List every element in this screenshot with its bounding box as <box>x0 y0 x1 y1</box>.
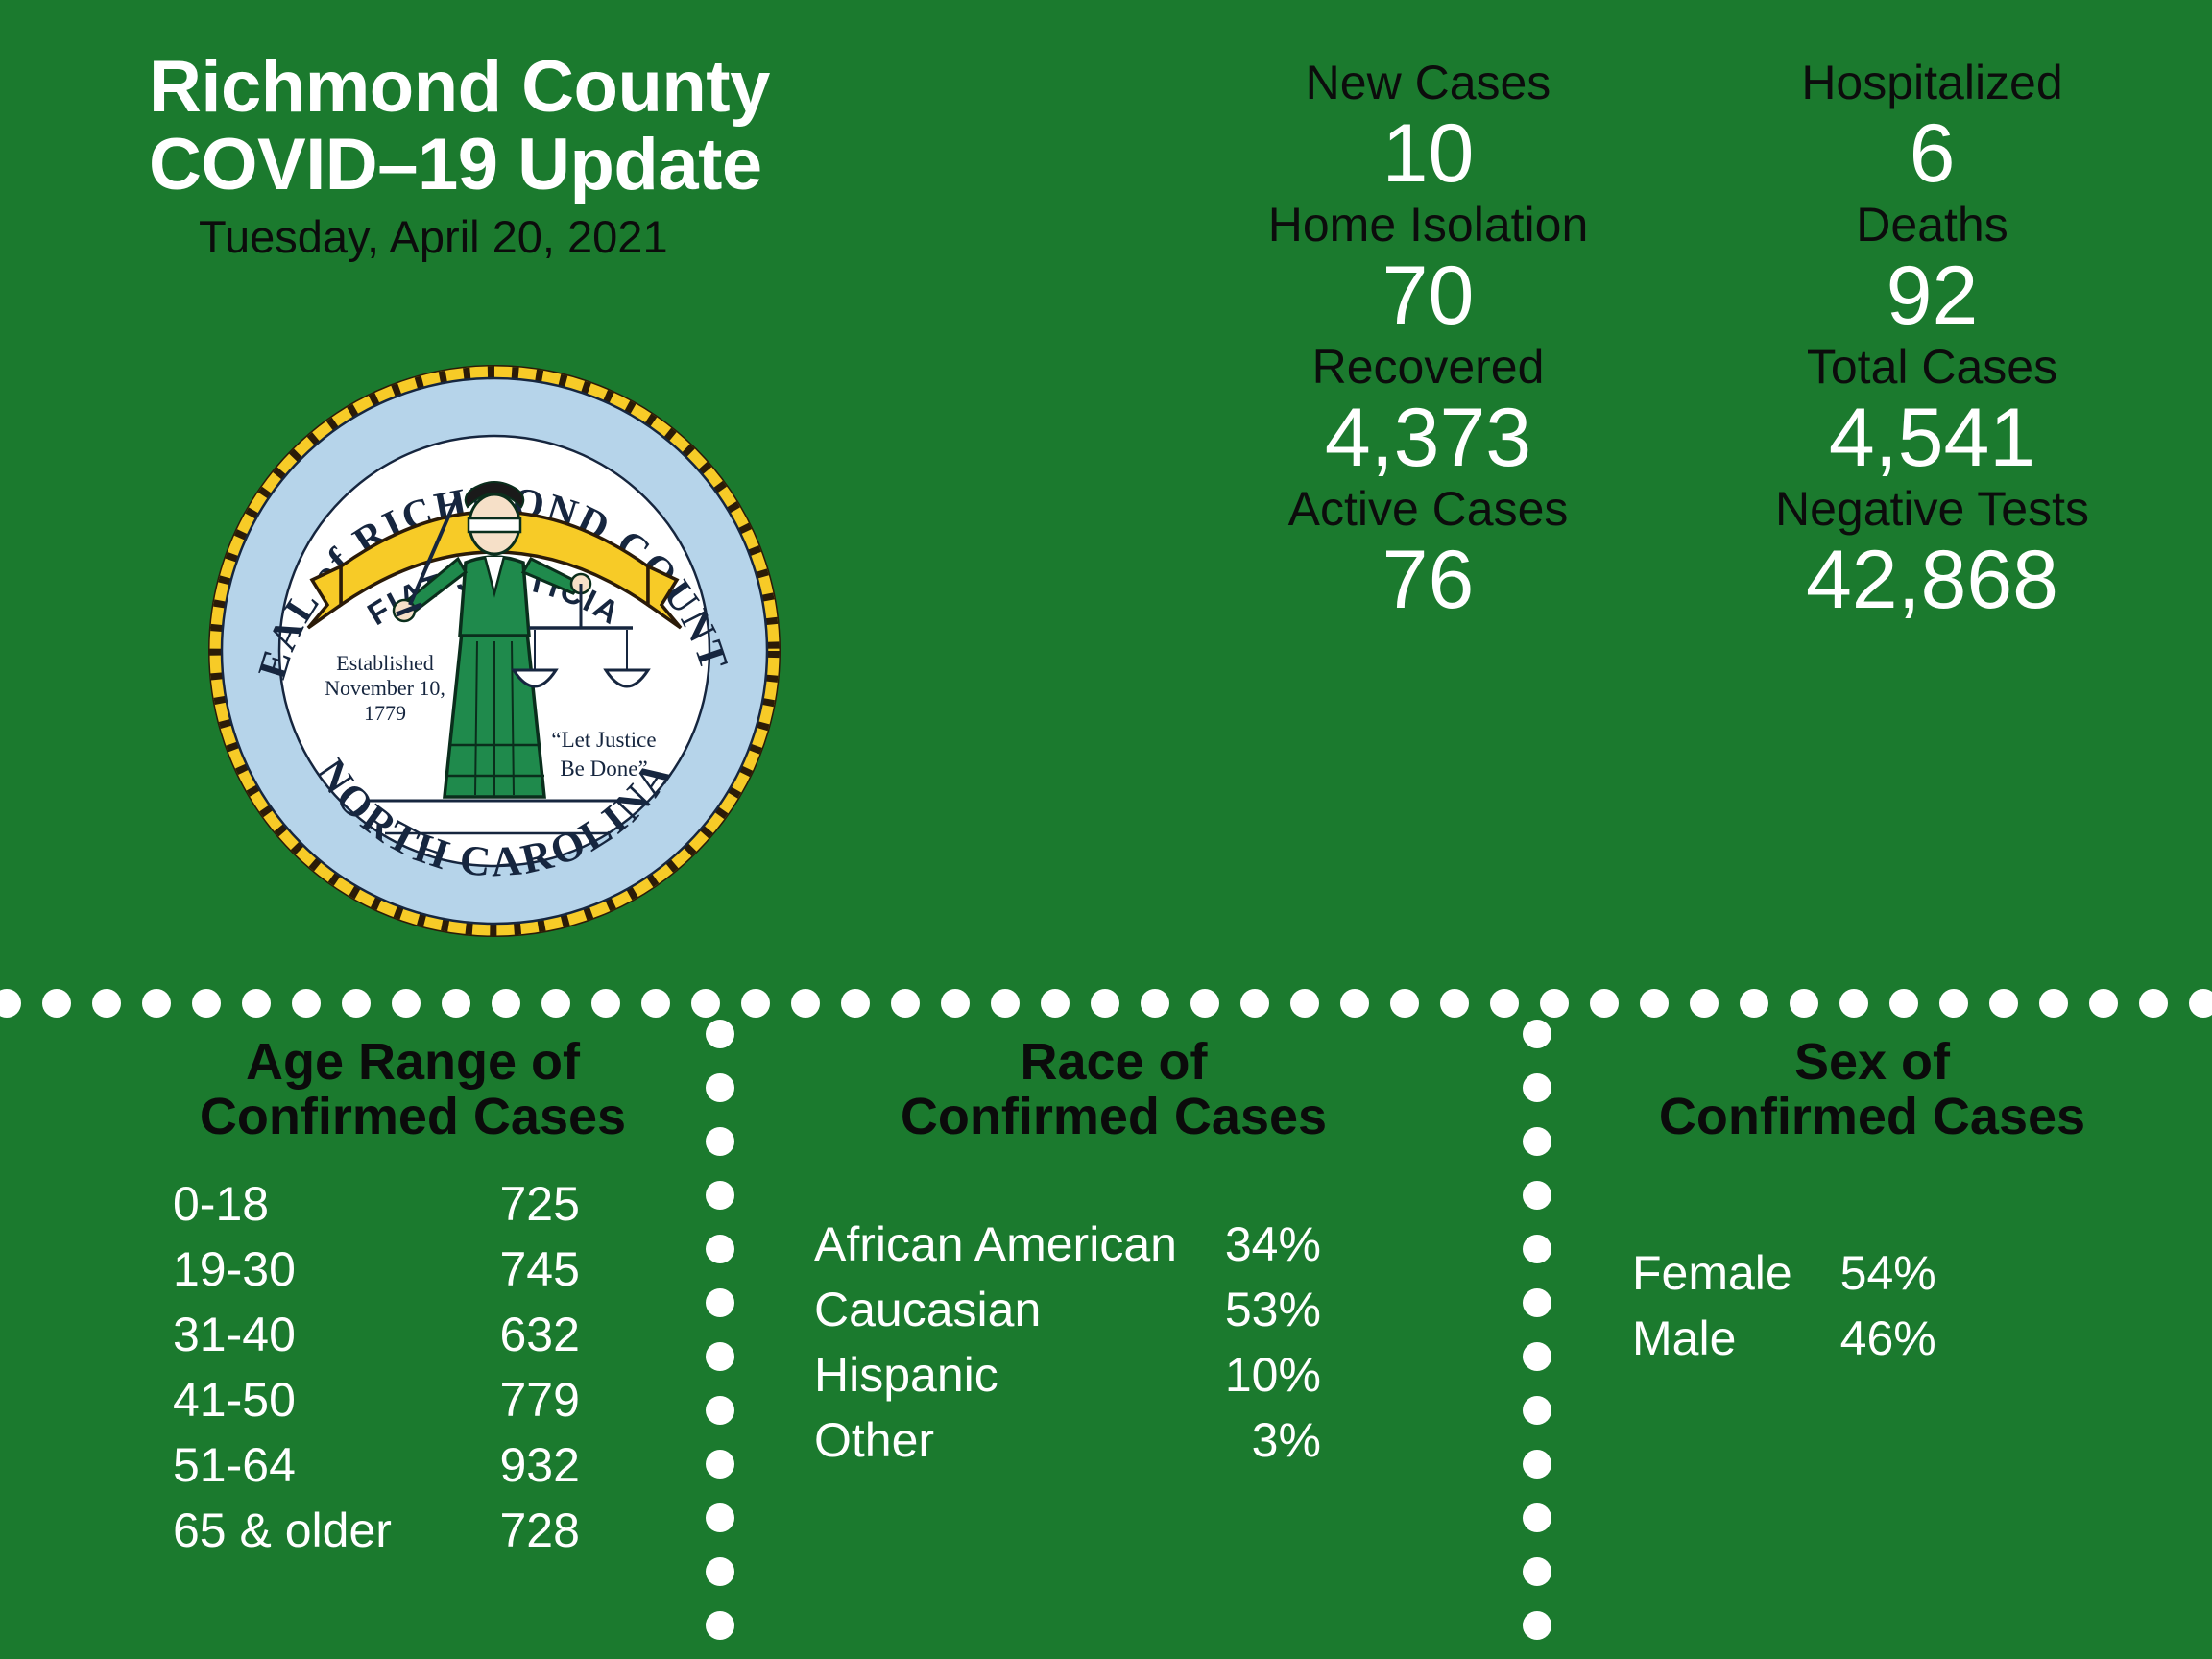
divider-dot <box>641 989 670 1018</box>
age-label: 31-40 <box>173 1302 426 1367</box>
age-label: 65 & older <box>173 1498 426 1563</box>
divider-dot <box>392 989 421 1018</box>
divider-dot <box>1640 989 1669 1018</box>
age-label: 19-30 <box>173 1237 426 1302</box>
divider-dot <box>591 989 620 1018</box>
divider-dot <box>1141 989 1169 1018</box>
divider-dot <box>342 989 371 1018</box>
divider-dot <box>42 989 71 1018</box>
table-row: Female 54% <box>1632 1240 1936 1306</box>
panel-race-heading-line-2: Confirmed Cases <box>768 1090 1459 1144</box>
divider-dot <box>1523 1288 1551 1317</box>
age-value: 745 <box>426 1237 580 1302</box>
sex-value: 54% <box>1792 1240 1936 1306</box>
divider-dot <box>541 989 570 1018</box>
divider-dot <box>242 989 271 1018</box>
stat-negative-tests: Negative Tests 42,868 <box>1699 482 2165 624</box>
stat-value: 92 <box>1699 252 2165 340</box>
divider-dot <box>706 1503 734 1532</box>
divider-dot <box>1523 1181 1551 1210</box>
panel-age-range: Age Range of Confirmed Cases 0-18 725 19… <box>144 1035 682 1563</box>
divider-dot <box>1091 989 1119 1018</box>
sex-label: Female <box>1632 1240 1792 1306</box>
race-value: 10% <box>1177 1342 1321 1407</box>
divider-dot <box>706 1127 734 1156</box>
divider-dot <box>706 1611 734 1640</box>
divider-dot <box>741 989 770 1018</box>
stat-value: 10 <box>1195 110 1661 198</box>
divider-dot <box>706 1450 734 1479</box>
divider-dot <box>1440 989 1469 1018</box>
table-row: 0-18 725 <box>173 1171 580 1237</box>
divider-dot <box>1523 1503 1551 1532</box>
age-label: 41-50 <box>173 1367 426 1432</box>
title-line-1: Richmond County <box>149 48 994 126</box>
sex-value: 46% <box>1792 1306 1936 1371</box>
divider-dot <box>1989 989 2018 1018</box>
vertical-dotted-divider-left <box>706 1020 734 1659</box>
stat-value: 4,541 <box>1699 395 2165 482</box>
stat-value: 42,868 <box>1699 537 2165 624</box>
divider-dot <box>1240 989 1269 1018</box>
divider-dot <box>1523 1396 1551 1425</box>
divider-dot <box>2139 989 2168 1018</box>
stat-total-cases: Total Cases 4,541 <box>1699 340 2165 482</box>
svg-text:Be Done”: Be Done” <box>560 757 647 781</box>
stat-label: Home Isolation <box>1195 198 1661 252</box>
age-label: 51-64 <box>173 1432 426 1498</box>
panel-sex-heading-line-1: Sex of <box>1575 1035 2170 1090</box>
stat-label: Total Cases <box>1699 340 2165 395</box>
race-label: Other <box>814 1407 1177 1473</box>
divider-dot <box>1290 989 1319 1018</box>
title-line-2: COVID–19 Update <box>149 126 994 204</box>
divider-dot <box>1340 989 1369 1018</box>
panel-sex-heading: Sex of Confirmed Cases <box>1575 1035 2170 1144</box>
sex-label: Male <box>1632 1306 1792 1371</box>
summary-stats-grid: New Cases 10 Hospitalized 6 Home Isolati… <box>1195 56 2165 625</box>
divider-dot <box>841 989 870 1018</box>
stat-hospitalized: Hospitalized 6 <box>1699 56 2165 198</box>
panel-sex: Sex of Confirmed Cases Female 54% Male 4… <box>1575 1035 2170 1371</box>
race-value: 34% <box>1177 1212 1321 1277</box>
svg-text:Established: Established <box>336 651 433 675</box>
richmond-county-seal: SEAL of RICHMOND COUNTY NORTH CAROLINA F… <box>197 353 792 949</box>
divider-dot <box>1889 989 1918 1018</box>
stat-value: 76 <box>1195 537 1661 624</box>
age-value: 932 <box>426 1432 580 1498</box>
age-value: 632 <box>426 1302 580 1367</box>
divider-dot <box>1740 989 1768 1018</box>
divider-dot <box>1690 989 1719 1018</box>
stat-deaths: Deaths 92 <box>1699 198 2165 340</box>
horizontal-dotted-divider <box>0 989 2212 1018</box>
divider-dot <box>1390 989 1419 1018</box>
divider-dot <box>92 989 121 1018</box>
table-row: Caucasian 53% <box>814 1277 1321 1342</box>
divider-dot <box>1839 989 1868 1018</box>
divider-dot <box>0 989 21 1018</box>
stat-value: 6 <box>1699 110 2165 198</box>
panel-sex-heading-line-2: Confirmed Cases <box>1575 1090 2170 1144</box>
divider-dot <box>1523 1557 1551 1586</box>
divider-dot <box>1523 1127 1551 1156</box>
page-title: Richmond County COVID–19 Update Tuesday,… <box>149 48 994 264</box>
divider-dot <box>706 1020 734 1048</box>
table-row: Other 3% <box>814 1407 1321 1473</box>
stat-recovered: Recovered 4,373 <box>1195 340 1661 482</box>
divider-dot <box>991 989 1020 1018</box>
table-row: 51-64 932 <box>173 1432 580 1498</box>
stat-value: 4,373 <box>1195 395 1661 482</box>
panel-age-heading-line-1: Age Range of <box>144 1035 682 1090</box>
panel-race-heading: Race of Confirmed Cases <box>768 1035 1459 1144</box>
vertical-dotted-divider-right <box>1523 1020 1551 1659</box>
panel-race-heading-line-1: Race of <box>768 1035 1459 1090</box>
divider-dot <box>1523 1611 1551 1640</box>
table-row: African American 34% <box>814 1212 1321 1277</box>
race-label: Caucasian <box>814 1277 1177 1342</box>
divider-dot <box>1523 1342 1551 1371</box>
divider-dot <box>1790 989 1818 1018</box>
age-value: 725 <box>426 1171 580 1237</box>
stat-home-isolation: Home Isolation 70 <box>1195 198 1661 340</box>
stat-label: Negative Tests <box>1699 482 2165 537</box>
stat-label: Hospitalized <box>1699 56 2165 110</box>
divider-dot <box>941 989 970 1018</box>
age-label: 0-18 <box>173 1171 426 1237</box>
stat-active-cases: Active Cases 76 <box>1195 482 1661 624</box>
divider-dot <box>706 1073 734 1102</box>
divider-dot <box>1540 989 1569 1018</box>
svg-text:“Let Justice: “Let Justice <box>551 728 656 752</box>
svg-text:1779: 1779 <box>364 701 406 725</box>
age-value: 728 <box>426 1498 580 1563</box>
divider-dot <box>706 1288 734 1317</box>
race-value: 3% <box>1177 1407 1321 1473</box>
divider-dot <box>442 989 470 1018</box>
divider-dot <box>691 989 720 1018</box>
svg-text:November 10,: November 10, <box>325 676 445 700</box>
divider-dot <box>706 1396 734 1425</box>
divider-dot <box>2089 989 2118 1018</box>
divider-dot <box>891 989 920 1018</box>
divider-dot <box>706 1181 734 1210</box>
divider-dot <box>706 1235 734 1263</box>
divider-dot <box>1523 1073 1551 1102</box>
panel-age-heading: Age Range of Confirmed Cases <box>144 1035 682 1144</box>
sex-table: Female 54% Male 46% <box>1632 1240 1936 1371</box>
stat-label: Recovered <box>1195 340 1661 395</box>
stat-label: New Cases <box>1195 56 1661 110</box>
divider-dot <box>706 1557 734 1586</box>
divider-dot <box>142 989 171 1018</box>
stat-value: 70 <box>1195 252 1661 340</box>
infographic-page: Richmond County COVID–19 Update Tuesday,… <box>0 0 2212 1659</box>
divider-dot <box>492 989 520 1018</box>
panel-age-heading-line-2: Confirmed Cases <box>144 1090 682 1144</box>
divider-dot <box>1939 989 1968 1018</box>
age-range-table: 0-18 725 19-30 745 31-40 632 41-50 779 5… <box>173 1171 580 1563</box>
table-row: 19-30 745 <box>173 1237 580 1302</box>
divider-dot <box>1190 989 1219 1018</box>
table-row: 31-40 632 <box>173 1302 580 1367</box>
divider-dot <box>706 1342 734 1371</box>
divider-dot <box>1523 1450 1551 1479</box>
divider-dot <box>2189 989 2212 1018</box>
divider-dot <box>192 989 221 1018</box>
table-row: 65 & older 728 <box>173 1498 580 1563</box>
panel-race: Race of Confirmed Cases African American… <box>768 1035 1459 1473</box>
race-table: African American 34% Caucasian 53% Hispa… <box>814 1212 1321 1473</box>
stat-new-cases: New Cases 10 <box>1195 56 1661 198</box>
divider-dot <box>2039 989 2068 1018</box>
divider-dot <box>791 989 820 1018</box>
stat-label: Deaths <box>1699 198 2165 252</box>
stat-label: Active Cases <box>1195 482 1661 537</box>
divider-dot <box>1590 989 1619 1018</box>
divider-dot <box>1041 989 1070 1018</box>
age-value: 779 <box>426 1367 580 1432</box>
race-value: 53% <box>1177 1277 1321 1342</box>
report-date: Tuesday, April 20, 2021 <box>199 210 994 264</box>
race-label: African American <box>814 1212 1177 1277</box>
table-row: Male 46% <box>1632 1306 1936 1371</box>
divider-dot <box>1523 1235 1551 1263</box>
divider-dot <box>1523 1020 1551 1048</box>
race-label: Hispanic <box>814 1342 1177 1407</box>
divider-dot <box>1490 989 1519 1018</box>
divider-dot <box>292 989 321 1018</box>
table-row: Hispanic 10% <box>814 1342 1321 1407</box>
table-row: 41-50 779 <box>173 1367 580 1432</box>
